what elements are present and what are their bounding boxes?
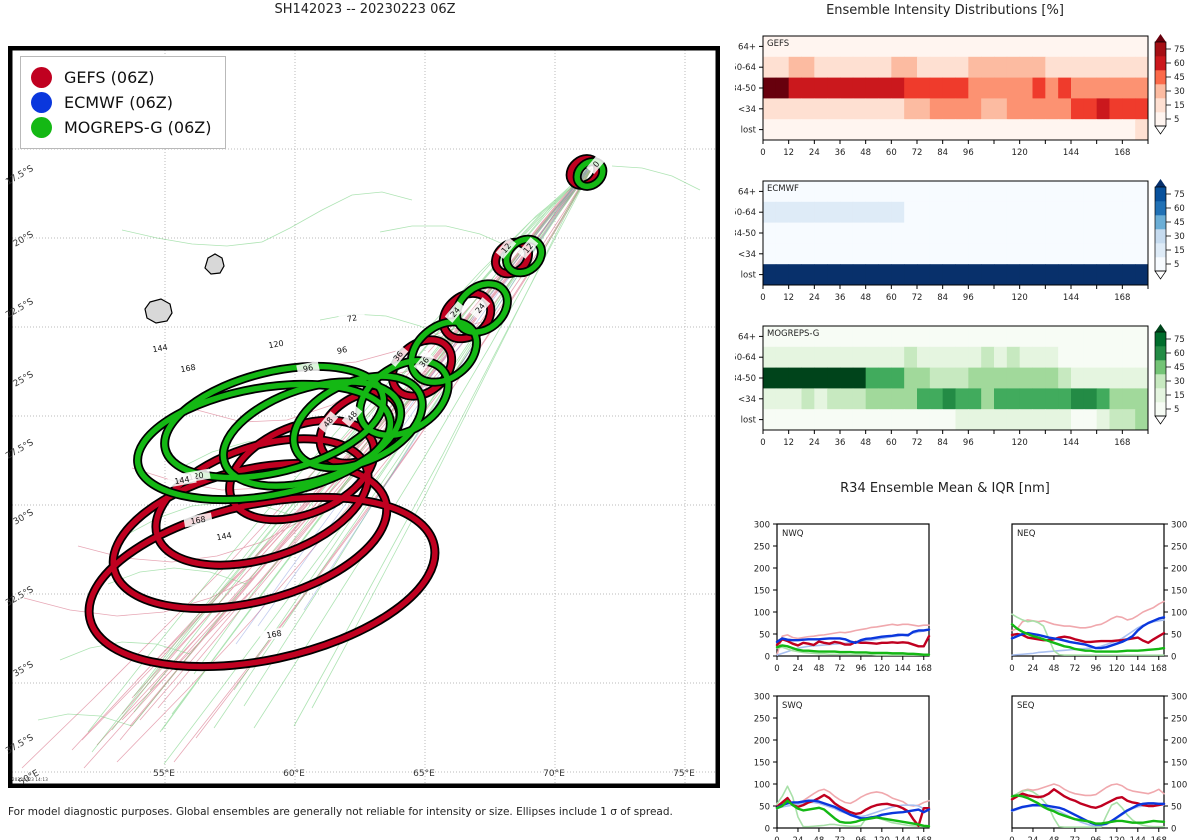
heatmap-cell (1020, 78, 1033, 99)
heatmap-cell (943, 388, 956, 409)
heatmap-cell (1110, 326, 1123, 347)
heatmap-cell (1071, 243, 1084, 264)
heatmap-cell (866, 347, 879, 368)
heatmap-cell (866, 119, 879, 140)
heatmap-cell (827, 326, 840, 347)
heatmap-cell (968, 36, 981, 57)
heatmap-cell (1058, 119, 1071, 140)
r34-x-label: 24 (793, 836, 804, 840)
heatmap-cell (930, 326, 943, 347)
heatmap-cell (1122, 98, 1135, 119)
heatmap-cell (904, 98, 917, 119)
colorbar-extend-min-icon (1155, 416, 1166, 424)
colorbar-label: 15 (1174, 391, 1185, 401)
heatmap-cell (840, 36, 853, 57)
heatmaps-svg[interactable]: GEFS64+50-6434-50<34lost0122436486072849… (735, 20, 1200, 475)
heatmap-cell (1058, 326, 1071, 347)
heatmap-cell (814, 181, 827, 202)
colorbar-extend-max-icon (1155, 324, 1166, 332)
heatmap-cell (904, 223, 917, 244)
heatmap-cell (1110, 388, 1123, 409)
r34-x-label: 24 (1028, 664, 1039, 674)
r34-y-label: 150 (1171, 587, 1187, 597)
heatmap-cell (853, 326, 866, 347)
heatmap-cell (981, 347, 994, 368)
heatmap-cell (802, 78, 815, 99)
heatmap-cell (1007, 326, 1020, 347)
heatmap-x-label: 12 (783, 148, 794, 158)
heatmap-cell (763, 264, 776, 285)
heatmap-cell (981, 368, 994, 389)
heatmap-cell (1122, 78, 1135, 99)
heatmap-cell (1135, 119, 1148, 140)
map-plot-area[interactable]: 0 12 12 24 24 36 36 48 48 96 96 72 120 1… (8, 46, 720, 788)
heatmap-cell (1122, 326, 1135, 347)
r34-y-label: 50 (1171, 803, 1182, 813)
heatmap-cell (827, 388, 840, 409)
r34-x-label: 48 (814, 664, 825, 674)
heatmap-cell (956, 409, 969, 430)
heatmap-cell (1020, 243, 1033, 264)
heatmap-cell (1071, 57, 1084, 78)
heatmap-cell (763, 98, 776, 119)
heatmap-cell (1071, 388, 1084, 409)
heatmap-cell (968, 347, 981, 368)
heatmap-cell (763, 388, 776, 409)
heatmap-cell (1135, 368, 1148, 389)
heatmap-cell (904, 409, 917, 430)
heatmap-cell (930, 388, 943, 409)
r34-y-label: 0 (765, 825, 770, 835)
heatmap-cell (1110, 409, 1123, 430)
r34-panel-seq[interactable]: SEQ050100150200250300024487296120144168 (1009, 693, 1187, 840)
heatmap-cell (853, 243, 866, 264)
heatmap-cell (1135, 78, 1148, 99)
heatmap-cell (1097, 223, 1110, 244)
heatmap-cell (1097, 347, 1110, 368)
heatmap-cell (827, 78, 840, 99)
heatmap-cell (814, 388, 827, 409)
heatmap-cell (879, 57, 892, 78)
heatmap-x-label: 96 (963, 148, 974, 158)
heatmap-cell (1020, 223, 1033, 244)
heatmap-cell (917, 326, 930, 347)
heatmap-cell (968, 409, 981, 430)
heatmap-cell (956, 347, 969, 368)
heatmap-cell (1110, 78, 1123, 99)
heatmap-cell (1110, 368, 1123, 389)
heatmap-cell (840, 264, 853, 285)
heatmap-x-label: 120 (1012, 438, 1028, 448)
colorbar-label: 45 (1174, 218, 1185, 228)
heatmap-x-label: 60 (886, 293, 897, 303)
heatmap-cell (763, 223, 776, 244)
heatmap-cell (1135, 409, 1148, 430)
heatmap-cell (1033, 202, 1046, 223)
heatmap-y-label: <34 (738, 395, 756, 405)
heatmap-cell (956, 368, 969, 389)
heatmap-cell (1084, 409, 1097, 430)
heatmap-cell (930, 409, 943, 430)
heatmap-cell (827, 264, 840, 285)
r34-panel-swq[interactable]: SWQ050100150200250300024487296120144168 (754, 693, 932, 840)
heatmap-cell (1097, 202, 1110, 223)
heatmap-cell (776, 202, 789, 223)
heatmap-x-label: 144 (1063, 293, 1079, 303)
heatmap-cell (994, 181, 1007, 202)
heatmap-cell (1045, 326, 1058, 347)
heatmap-cell (840, 243, 853, 264)
heatmap-cell (956, 119, 969, 140)
heatmap-cell (1097, 243, 1110, 264)
heatmap-x-label: 144 (1063, 148, 1079, 158)
heatmap-cell (891, 409, 904, 430)
map-lon-axis: 50°E 55°E 60°E 65°E 70°E 75°E (0, 758, 730, 784)
heatmap-cell (1110, 57, 1123, 78)
heatmap-cell (1007, 57, 1020, 78)
heatmap-cell (879, 78, 892, 99)
heatmap-cell (1020, 264, 1033, 285)
r34-y-label: 0 (765, 653, 770, 663)
heatmap-cell (1135, 243, 1148, 264)
svg-text:25°S: 25°S (12, 370, 36, 390)
heatmap-cell (956, 57, 969, 78)
legend-marker-gefs-icon (31, 67, 52, 88)
colorbar-label: 5 (1174, 405, 1179, 415)
heatmap-cell (1084, 36, 1097, 57)
heatmap-cell (789, 243, 802, 264)
heatmap-cell (814, 409, 827, 430)
heatmap-cell (814, 243, 827, 264)
heatmap-cell (853, 119, 866, 140)
heatmap-cell (853, 264, 866, 285)
heatmap-cell (930, 78, 943, 99)
heatmap-y-label: 50-64 (735, 208, 756, 218)
r34-x-label: 96 (855, 664, 866, 674)
heatmap-x-label: 24 (809, 438, 820, 448)
heatmap-cell (802, 264, 815, 285)
legend-item-ecmwf[interactable]: ECMWF (06Z) (31, 90, 211, 115)
heatmap-cell (840, 78, 853, 99)
heatmap-cell (994, 243, 1007, 264)
heatmap-cell (840, 57, 853, 78)
heatmap-cell (1097, 264, 1110, 285)
heatmap-cell (968, 202, 981, 223)
heatmap-x-label: 48 (860, 148, 871, 158)
heatmap-panel-mogreps-g[interactable]: MOGREPS-G64+50-6434-50<34lost01224364860… (735, 326, 1148, 448)
legend-item-mogreps[interactable]: MOGREPS-G (06Z) (31, 115, 211, 140)
heatmap-cell (930, 181, 943, 202)
heatmap-cell (981, 409, 994, 430)
heatmap-cell (1058, 243, 1071, 264)
heatmap-cell (994, 368, 1007, 389)
heatmap-cell (904, 119, 917, 140)
heatmap-cell (943, 36, 956, 57)
heatmap-cell (789, 78, 802, 99)
heatmap-cell (776, 243, 789, 264)
colorbar-label: 15 (1174, 246, 1185, 256)
r34-y-label: 300 (1171, 693, 1187, 703)
r34-y-label: 50 (759, 803, 770, 813)
heatmap-cell (827, 368, 840, 389)
heatmap-cell (891, 119, 904, 140)
r34-x-label: 0 (774, 836, 779, 840)
heatmap-cell (956, 78, 969, 99)
heatmap-cell (1084, 368, 1097, 389)
r34-x-label: 120 (1109, 664, 1125, 674)
heatmap-cell (802, 368, 815, 389)
r34-y-label: 150 (754, 759, 770, 769)
r34-x-label: 0 (1009, 664, 1014, 674)
heatmap-cell (879, 243, 892, 264)
r34-x-label: 48 (1049, 664, 1060, 674)
heatmap-cell (1033, 36, 1046, 57)
heatmap-cell (814, 98, 827, 119)
heatmap-x-label: 60 (886, 148, 897, 158)
heatmap-cell (1084, 347, 1097, 368)
heatmap-cell (1020, 98, 1033, 119)
heatmap-cell (981, 388, 994, 409)
heatmap-cell (853, 181, 866, 202)
heatmap-cell (1058, 181, 1071, 202)
r34-x-label: 144 (1130, 664, 1146, 674)
heatmap-cell (943, 347, 956, 368)
heatmap-cell (904, 368, 917, 389)
legend-label-ecmwf: ECMWF (06Z) (64, 93, 173, 112)
heatmap-cell (1122, 223, 1135, 244)
heatmap-cell (789, 98, 802, 119)
heatmap-cell (1045, 388, 1058, 409)
heatmap-cell (853, 202, 866, 223)
heatmap-cell (994, 347, 1007, 368)
colorbar-band (1155, 388, 1166, 402)
heatmap-cell (943, 119, 956, 140)
heatmap-cell (763, 347, 776, 368)
r34-y-label: 50 (1171, 631, 1182, 641)
heatmap-cell (1007, 223, 1020, 244)
heatmap-cell (814, 202, 827, 223)
r34-title: R34 Ensemble Mean & IQR [nm] (735, 481, 1155, 496)
heatmap-cell (943, 98, 956, 119)
colorbar-extend-max-icon (1155, 34, 1166, 42)
r34-quadrant-label: NEQ (1017, 529, 1036, 539)
colorbar-label: 5 (1174, 115, 1179, 125)
heatmap-cell (956, 98, 969, 119)
heatmap-cell (1007, 36, 1020, 57)
heatmap-model-label: ECMWF (767, 184, 799, 194)
heatmap-cell (789, 388, 802, 409)
heatmap-cell (917, 368, 930, 389)
heatmap-cell (968, 78, 981, 99)
heatmap-cell (956, 36, 969, 57)
heatmap-cell (1007, 181, 1020, 202)
r34-y-label: 150 (1171, 759, 1187, 769)
heatmap-cell (802, 243, 815, 264)
r34-x-label: 144 (895, 836, 911, 840)
heatmap-cell (1007, 202, 1020, 223)
heatmap-cell (879, 264, 892, 285)
heatmap-cell (763, 78, 776, 99)
r34-panel-nwq[interactable]: NWQ050100150200250300024487296120144168 (754, 521, 932, 675)
heatmap-cell (994, 202, 1007, 223)
heatmap-cell (904, 78, 917, 99)
heatmap-cell (904, 243, 917, 264)
colorbar-extend-min-icon (1155, 271, 1166, 279)
heatmap-cell (776, 57, 789, 78)
heatmap-cell (814, 78, 827, 99)
svg-text:60°E: 60°E (283, 769, 305, 779)
heatmap-cell (1122, 264, 1135, 285)
heatmap-cell (866, 78, 879, 99)
heatmap-cell (968, 326, 981, 347)
heatmap-cell (853, 368, 866, 389)
heatmap-cell (956, 388, 969, 409)
heatmap-cell (776, 78, 789, 99)
heatmap-cell (981, 98, 994, 119)
r34-y-label: 50 (759, 631, 770, 641)
lat-label: 17.5°S (4, 164, 35, 188)
heatmap-cell (1058, 368, 1071, 389)
heatmap-cell (1135, 223, 1148, 244)
heatmap-cell (802, 36, 815, 57)
svg-text:20°S: 20°S (12, 230, 36, 250)
heatmap-cell (802, 202, 815, 223)
heatmap-cell (956, 202, 969, 223)
colorbar-label: 45 (1174, 363, 1185, 373)
ensemble-heatmaps: GEFS64+50-6434-50<34lost0122436486072849… (735, 20, 1200, 475)
colorbar-mogreps-g: 75604530155 (1155, 324, 1185, 424)
colorbar-band (1155, 229, 1166, 243)
heatmap-panel-ecmwf[interactable]: ECMWF64+50-6434-50<34lost012243648607284… (735, 181, 1148, 303)
r34-y-label: 0 (1171, 825, 1176, 835)
heatmap-cell (1033, 347, 1046, 368)
colorbar-band (1155, 332, 1166, 346)
heatmap-cell (930, 57, 943, 78)
heatmap-cell (917, 409, 930, 430)
heatmap-cell (1045, 78, 1058, 99)
heatmap-cell (814, 264, 827, 285)
heatmap-x-label: 0 (760, 148, 765, 158)
heatmap-cell (968, 368, 981, 389)
colorbar-band (1155, 42, 1166, 56)
heatmap-cell (789, 36, 802, 57)
heatmap-cell (1045, 368, 1058, 389)
r34-y-label: 300 (1171, 521, 1187, 531)
map-lat-axis: 17.5°S 20°S 22.5°S 25°S 27.5°S 30°S 32.5… (0, 46, 40, 788)
heatmap-cell (1071, 36, 1084, 57)
heatmap-cell (879, 409, 892, 430)
map-legend[interactable]: GEFS (06Z) ECMWF (06Z) MOGREPS-G (06Z) (20, 56, 226, 149)
heatmap-cell (776, 388, 789, 409)
heatmap-x-label: 24 (809, 293, 820, 303)
heatmap-cell (904, 36, 917, 57)
heatmap-cell (904, 181, 917, 202)
heatmap-cell (853, 388, 866, 409)
r34-x-label: 48 (814, 836, 825, 840)
r34-x-label: 72 (1069, 664, 1080, 674)
r34-x-label: 120 (874, 664, 890, 674)
heatmap-cell (866, 223, 879, 244)
heatmap-x-label: 24 (809, 148, 820, 158)
heatmap-cell (1071, 326, 1084, 347)
colorbar-ecmwf: 75604530155 (1155, 179, 1185, 279)
heatmap-cell (827, 119, 840, 140)
heatmap-cell (814, 36, 827, 57)
colorbar-band (1155, 243, 1166, 257)
heatmap-cell (814, 223, 827, 244)
heatmap-cell (1058, 57, 1071, 78)
r34-x-label: 144 (1130, 836, 1146, 840)
heatmap-cell (930, 119, 943, 140)
heatmap-cell (1084, 243, 1097, 264)
heatmap-cell (853, 409, 866, 430)
heatmap-cell (1071, 409, 1084, 430)
r34-x-label: 168 (1151, 664, 1167, 674)
heatmap-cell (930, 202, 943, 223)
colorbar-band (1155, 56, 1166, 70)
heatmap-cell (917, 388, 930, 409)
heatmap-cell (917, 181, 930, 202)
heatmap-cell (1020, 388, 1033, 409)
heatmap-cell (1045, 36, 1058, 57)
legend-marker-mogreps-icon (31, 117, 52, 138)
r34-svg[interactable]: NWQ050100150200250300024487296120144168N… (735, 500, 1200, 840)
legend-item-gefs[interactable]: GEFS (06Z) (31, 65, 211, 90)
heatmap-cell (1084, 119, 1097, 140)
heatmap-cell (1058, 347, 1071, 368)
heatmap-cell (1110, 264, 1123, 285)
heatmap-cell (994, 98, 1007, 119)
r34-y-label: 150 (754, 587, 770, 597)
heatmap-x-label: 144 (1063, 438, 1079, 448)
heatmap-cell (866, 409, 879, 430)
heatmap-cell (840, 98, 853, 119)
heatmap-cell (943, 409, 956, 430)
heatmap-cell (1097, 368, 1110, 389)
svg-text:32.5°S: 32.5°S (4, 585, 35, 609)
heatmap-cell (1110, 181, 1123, 202)
r34-x-label: 120 (1109, 836, 1125, 840)
heatmap-cell (1045, 223, 1058, 244)
heatmap-cell (994, 326, 1007, 347)
heatmap-cell (930, 223, 943, 244)
heatmap-cell (891, 347, 904, 368)
colorbar-label: 5 (1174, 260, 1179, 270)
colorbar-gefs: 75604530155 (1155, 34, 1185, 134)
heatmap-cell (904, 202, 917, 223)
r34-y-label: 200 (1171, 737, 1187, 747)
heatmap-cell (776, 368, 789, 389)
heatmap-cell (1045, 264, 1058, 285)
heatmap-cell (1122, 388, 1135, 409)
heatmap-cell (943, 368, 956, 389)
heatmap-cell (1135, 264, 1148, 285)
heatmap-cell (968, 264, 981, 285)
heatmap-cell (1071, 347, 1084, 368)
heatmap-cell (1097, 181, 1110, 202)
heatmap-cell (866, 368, 879, 389)
heatmap-cell (879, 326, 892, 347)
heatmap-panel-gefs[interactable]: GEFS64+50-6434-50<34lost0122436486072849… (735, 36, 1148, 158)
colorbar-label: 75 (1174, 335, 1185, 345)
heatmap-cell (981, 119, 994, 140)
heatmap-cell (1135, 388, 1148, 409)
heatmap-cell (943, 326, 956, 347)
heatmap-cell (1084, 98, 1097, 119)
heatmap-cell (1045, 347, 1058, 368)
r34-panel-neq[interactable]: NEQ050100150200250300024487296120144168 (1009, 521, 1187, 675)
heatmap-cell (1122, 347, 1135, 368)
